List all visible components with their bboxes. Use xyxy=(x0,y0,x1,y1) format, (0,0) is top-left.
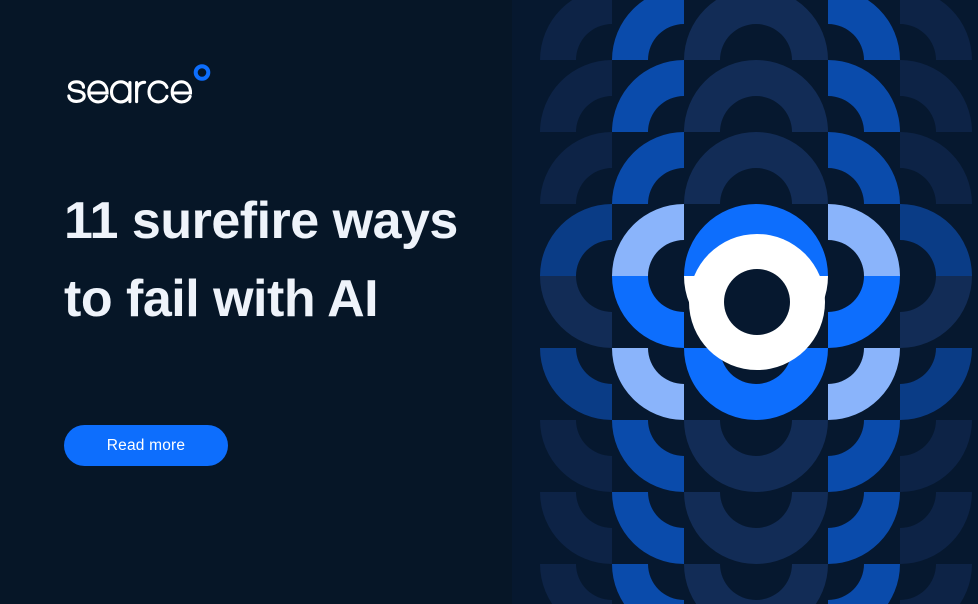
page-title: 11 surefire ways to fail with AI xyxy=(64,182,484,338)
quarter-ring-mandala-graphic xyxy=(512,0,978,604)
hero-banner: searce 11 surefire ways to fail with AI … xyxy=(0,0,978,604)
content-panel: searce 11 surefire ways to fail with AI … xyxy=(0,0,512,604)
logo-dot-icon xyxy=(196,66,209,79)
logo-letterforms xyxy=(69,82,191,102)
searce-logo[interactable]: searce xyxy=(64,62,224,110)
searce-wordmark-icon xyxy=(64,60,224,110)
center-ring-hole xyxy=(724,269,790,335)
center-ring-group xyxy=(689,234,825,370)
read-more-button[interactable]: Read more xyxy=(64,425,228,466)
decorative-pattern-panel xyxy=(512,0,978,604)
